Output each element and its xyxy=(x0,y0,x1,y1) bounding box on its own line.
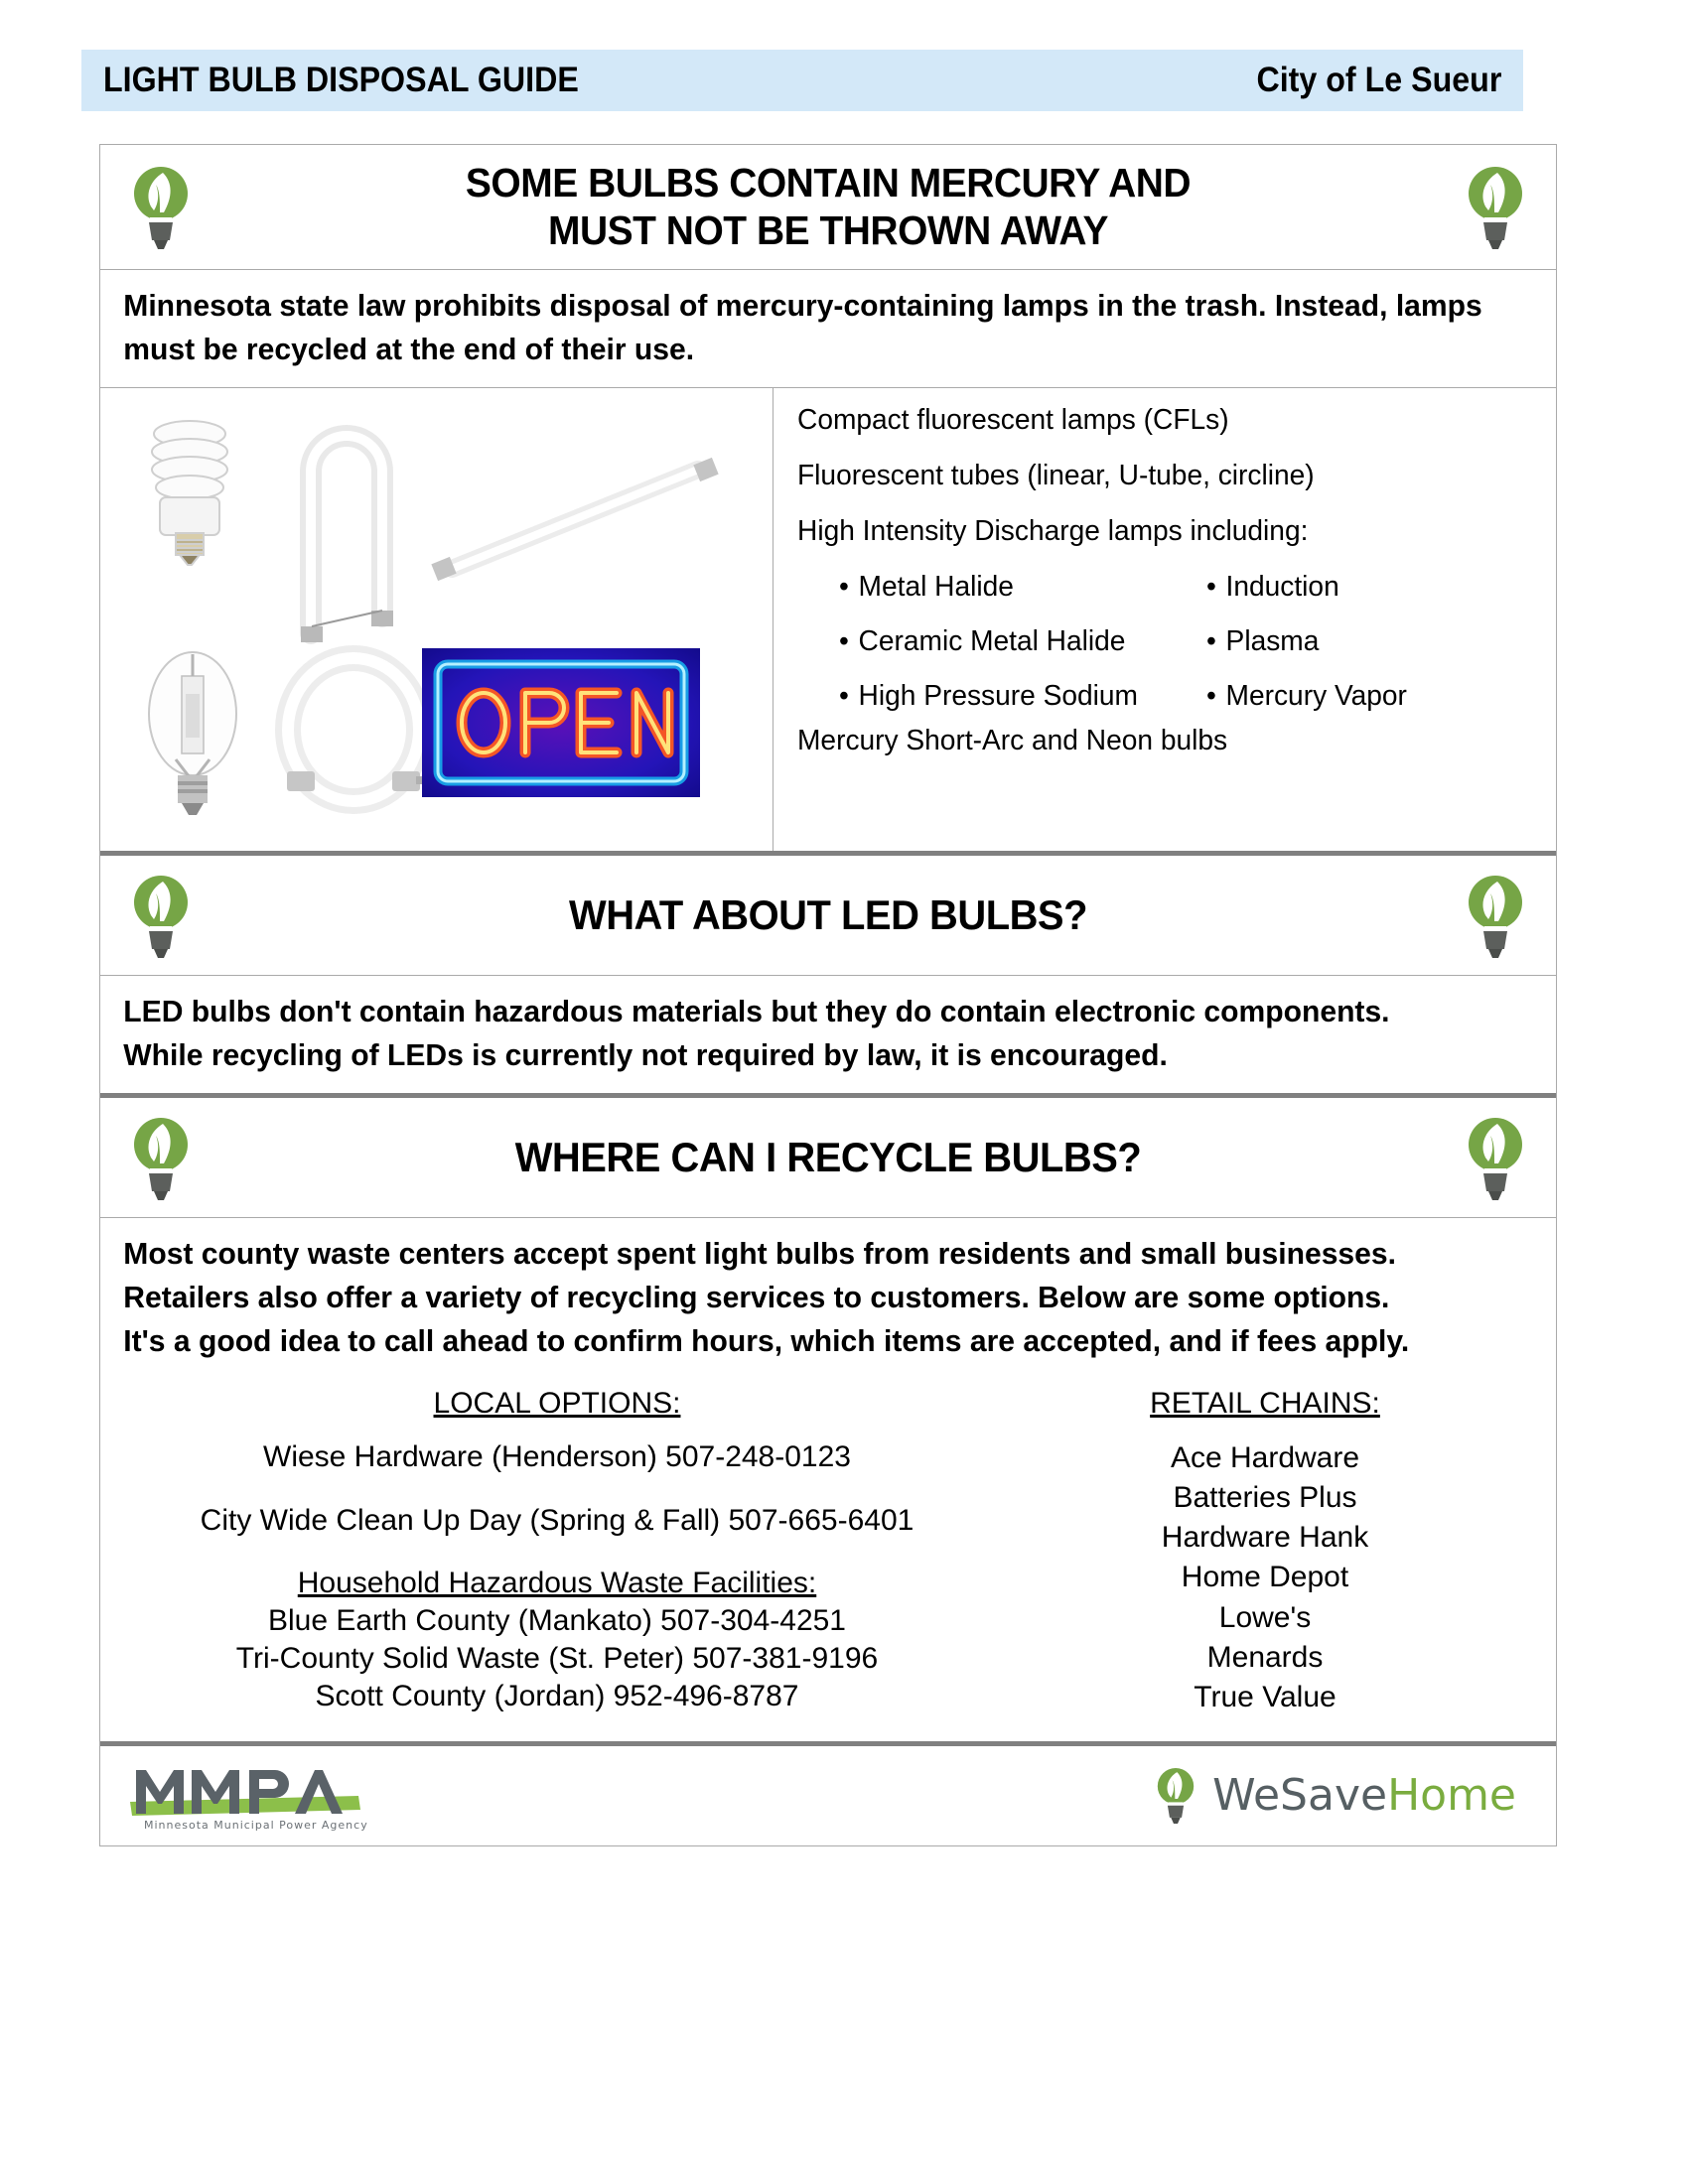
wesave-text-part2: Home xyxy=(1387,1770,1516,1821)
mercury-intro-row: Minnesota state law prohibits disposal o… xyxy=(100,270,1556,388)
wesavehome-wordmark: WeSaveHome xyxy=(1212,1770,1516,1821)
recycle-body-line2: Retailers also offer a variety of recycl… xyxy=(123,1276,1488,1319)
lamp-type-hid: High Intensity Discharge lamps including… xyxy=(797,517,1523,546)
bullet-dot-icon: • xyxy=(839,680,849,712)
led-banner-title: WHAT ABOUT LED BULBS? xyxy=(223,890,1433,940)
recycle-banner: WHERE CAN I RECYCLE BULBS? xyxy=(100,1098,1556,1217)
hid-bullet-metal-halide: •Metal Halide xyxy=(839,573,1196,602)
lamp-type-short-arc-neon: Mercury Short-Arc and Neon bulbs xyxy=(797,725,1523,757)
bullet-dot-icon: • xyxy=(1206,571,1216,603)
recycle-body-text: Most county waste centers accept spent l… xyxy=(100,1218,1512,1379)
mmpa-tagline: Minnesota Municipal Power Agency xyxy=(144,1819,368,1832)
recycle-body-line3: It's a good idea to call ahead to confir… xyxy=(123,1319,1488,1363)
eco-bulb-icon xyxy=(1465,161,1526,252)
led-banner: WHAT ABOUT LED BULBS? xyxy=(100,856,1556,975)
light-bulb-disposal-guide-page: LIGHT BULB DISPOSAL GUIDE City of Le Sue… xyxy=(0,0,1688,2184)
page-title: LIGHT BULB DISPOSAL GUIDE xyxy=(103,61,579,100)
eco-bulb-icon xyxy=(130,870,192,961)
hid-bullet-high-pressure-sodium: •High Pressure Sodium xyxy=(839,682,1196,711)
lamp-type-cfl: Compact fluorescent lamps (CFLs) xyxy=(797,406,1523,435)
retail-chains-heading: RETAIL CHAINS: xyxy=(974,1387,1556,1421)
guide-sheet: SOME BULBS CONTAIN MERCURY AND MUST NOT … xyxy=(99,144,1557,1846)
led-body-line1: LED bulbs don't contain hazardous materi… xyxy=(123,990,1488,1033)
lamp-type-list-cell: Compact fluorescent lamps (CFLs) Fluores… xyxy=(774,388,1556,851)
retail-chain-true-value: True Value xyxy=(974,1678,1556,1717)
retail-chain-hardware-hank: Hardware Hank xyxy=(974,1518,1556,1558)
hhw-tri-county-solid-waste: Tri-County Solid Waste (St. Peter) 507-3… xyxy=(140,1640,974,1678)
led-body-row: LED bulbs don't contain hazardous materi… xyxy=(100,976,1556,1098)
hid-bullet-plasma: •Plasma xyxy=(1206,627,1536,656)
recycle-body-row: Most county waste centers accept spent l… xyxy=(100,1218,1556,1746)
recycle-options: LOCAL OPTIONS: Wiese Hardware (Henderson… xyxy=(100,1379,1556,1741)
footer-logos: Minnesota Municipal Power Agency WeSaveH… xyxy=(100,1746,1556,1845)
hid-bullet-induction: •Induction xyxy=(1206,573,1536,602)
eco-bulb-icon xyxy=(130,161,192,252)
recycle-banner-title: WHERE CAN I RECYCLE BULBS? xyxy=(223,1133,1433,1182)
local-options-heading: LOCAL OPTIONS: xyxy=(140,1387,974,1421)
bullet-dot-icon: • xyxy=(1206,680,1216,712)
led-banner-row: WHAT ABOUT LED BULBS? xyxy=(100,856,1556,976)
local-option-wiese-hardware: Wiese Hardware (Henderson) 507-248-0123 xyxy=(140,1438,974,1476)
mercury-banner-title-line1: SOME BULBS CONTAIN MERCURY AND xyxy=(223,159,1433,206)
u-tube-fluorescent-icon xyxy=(259,400,408,648)
metal-halide-bulb-icon xyxy=(138,636,247,835)
mercury-banner: SOME BULBS CONTAIN MERCURY AND MUST NOT … xyxy=(100,145,1556,269)
bullet-dot-icon: • xyxy=(839,571,849,603)
mercury-banner-row: SOME BULBS CONTAIN MERCURY AND MUST NOT … xyxy=(100,145,1556,270)
eco-bulb-icon xyxy=(1153,1764,1198,1826)
eco-bulb-icon xyxy=(1465,870,1526,961)
bulb-illustration-cell xyxy=(100,388,774,851)
retail-chain-menards: Menards xyxy=(974,1638,1556,1678)
local-options-column: LOCAL OPTIONS: Wiese Hardware (Henderson… xyxy=(100,1387,974,1717)
mercury-banner-title-line2: MUST NOT BE THROWN AWAY xyxy=(223,206,1433,254)
retail-chain-lowes: Lowe's xyxy=(974,1598,1556,1638)
eco-bulb-icon xyxy=(130,1112,192,1203)
hid-bullet-grid: •Metal Halide •Induction •Ceramic Metal … xyxy=(839,573,1546,711)
neon-open-sign-icon xyxy=(422,648,700,797)
footer-row: Minnesota Municipal Power Agency WeSaveH… xyxy=(100,1746,1556,1845)
mercury-banner-title: SOME BULBS CONTAIN MERCURY AND MUST NOT … xyxy=(223,159,1433,255)
page-header-band: LIGHT BULB DISPOSAL GUIDE City of Le Sue… xyxy=(81,50,1523,111)
local-option-city-wide-clean-up: City Wide Clean Up Day (Spring & Fall) 5… xyxy=(140,1502,974,1540)
hid-bullet-mercury-vapor: •Mercury Vapor xyxy=(1206,682,1536,711)
retail-chain-ace-hardware: Ace Hardware xyxy=(974,1438,1556,1478)
linear-fluorescent-tube-icon xyxy=(428,448,726,597)
hhw-scott-county: Scott County (Jordan) 952-496-8787 xyxy=(140,1678,974,1715)
wesave-text-part1: WeSave xyxy=(1212,1770,1387,1821)
recycle-body-line1: Most county waste centers accept spent l… xyxy=(123,1232,1488,1276)
mercury-intro-text: Minnesota state law prohibits disposal o… xyxy=(100,270,1512,387)
hhw-blue-earth-county: Blue Earth County (Mankato) 507-304-4251 xyxy=(140,1602,974,1640)
eco-bulb-icon xyxy=(1465,1112,1526,1203)
cfl-spiral-bulb-icon xyxy=(130,410,249,589)
mercury-detail-row: Compact fluorescent lamps (CFLs) Fluores… xyxy=(100,388,1556,856)
circline-fluorescent-tube-icon xyxy=(259,644,448,833)
bullet-dot-icon: • xyxy=(839,625,849,657)
retail-chains-column: RETAIL CHAINS: Ace Hardware Batteries Pl… xyxy=(974,1387,1556,1717)
bullet-dot-icon: • xyxy=(1206,625,1216,657)
hhw-facilities-heading: Household Hazardous Waste Facilities: xyxy=(140,1567,974,1600)
retail-chain-home-depot: Home Depot xyxy=(974,1558,1556,1597)
spacer xyxy=(140,1476,974,1502)
lamp-type-fluorescent-tubes: Fluorescent tubes (linear, U-tube, circl… xyxy=(797,462,1523,490)
led-body-text: LED bulbs don't contain hazardous materi… xyxy=(100,976,1512,1093)
mmpa-logo: Minnesota Municipal Power Agency xyxy=(124,1756,372,1834)
wesavehome-logo: WeSaveHome xyxy=(1153,1764,1516,1826)
spacer xyxy=(140,1541,974,1567)
retail-chain-batteries-plus: Batteries Plus xyxy=(974,1478,1556,1518)
city-name: City of Le Sueur xyxy=(1256,61,1501,100)
led-body-line2: While recycling of LEDs is currently not… xyxy=(123,1033,1488,1077)
mercury-detail-split: Compact fluorescent lamps (CFLs) Fluores… xyxy=(100,388,1556,851)
recycle-banner-row: WHERE CAN I RECYCLE BULBS? xyxy=(100,1098,1556,1218)
hid-bullet-ceramic-metal-halide: •Ceramic Metal Halide xyxy=(839,627,1196,656)
